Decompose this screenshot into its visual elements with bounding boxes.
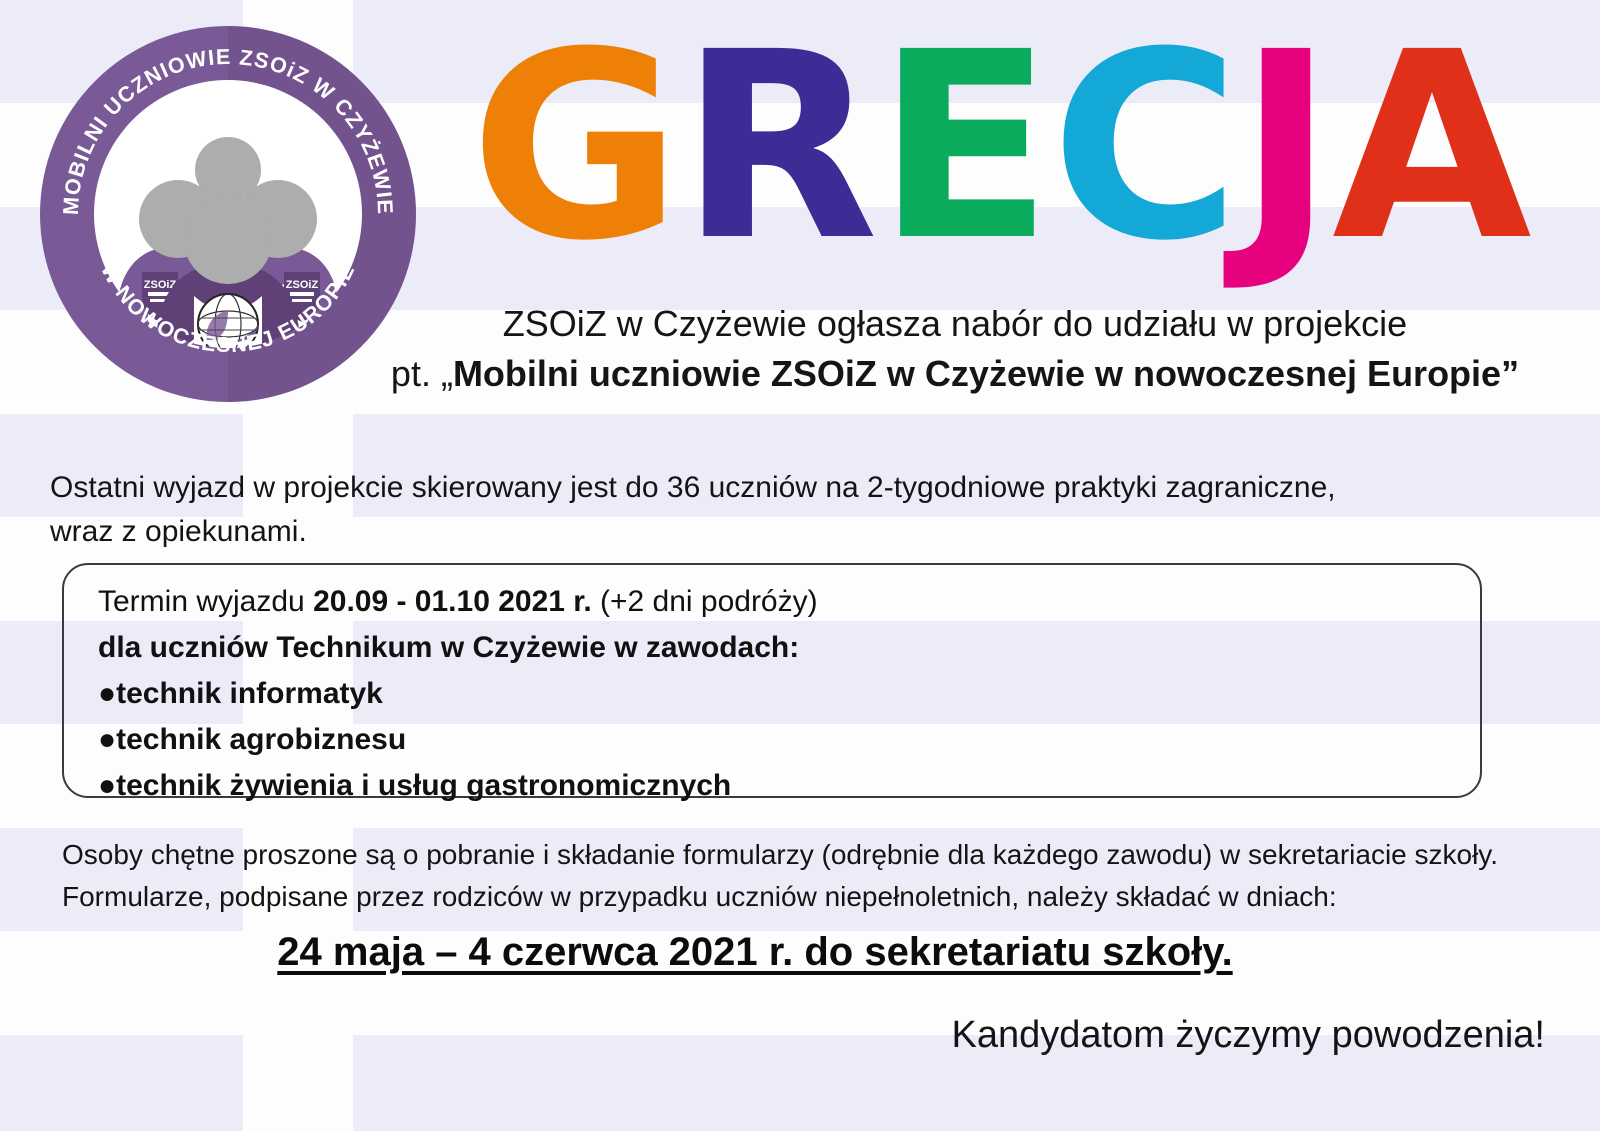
travel-term-line: Termin wyjazdu 20.09 - 01.10 2021 r. (+2…: [98, 579, 1480, 625]
closing-line: Kandydatom życzymy powodzenia!: [0, 1014, 1545, 1057]
poster-headline: GRECJA: [470, 18, 1520, 288]
term-prefix: Termin wyjazdu: [98, 585, 313, 618]
bullet-icon: ●: [98, 723, 116, 756]
headline-letter-a: A: [1332, 18, 1530, 276]
bullet-icon: ●: [98, 677, 116, 710]
outro-line-1: Osoby chętne proszone są o pobranie i sk…: [62, 834, 1542, 876]
subtitle-line-2: pt. „Mobilni uczniowie ZSOiZ w Czyżewie …: [390, 348, 1520, 400]
term-suffix: (+2 dni podróży): [592, 585, 818, 618]
subtitle-project-name: Mobilni uczniowie ZSOiZ w Czyżewie w now…: [453, 353, 1501, 394]
profession-label: technik informatyk: [116, 677, 383, 710]
subtitle-prefix: pt. „: [391, 353, 453, 394]
intro-line-1: Ostatni wyjazd w projekcie skierowany je…: [50, 466, 1490, 510]
profession-label: technik żywienia i usług gastronomicznyc…: [116, 769, 731, 802]
submission-date-text: 24 maja – 4 czerwca 2021 r. do sekretari…: [277, 930, 1232, 974]
profession-item: ●technik informatyk: [98, 671, 1480, 717]
intro-line-2: wraz z opiekunami.: [50, 510, 1490, 554]
profession-item: ●technik agrobiznesu: [98, 717, 1480, 763]
profession-item: ●technik żywienia i usług gastronomiczny…: [98, 763, 1480, 809]
subtitle-line-1: ZSOiZ w Czyżewie ogłasza nabór do udział…: [390, 300, 1520, 348]
outro-line-2: Formularze, podpisane przez rodziców w p…: [62, 876, 1542, 918]
intro-paragraph: Ostatni wyjazd w projekcie skierowany je…: [50, 466, 1490, 554]
headline-letter-j: J: [1238, 18, 1332, 276]
logo-badge-icon: ZSOiZ ZSOiZ: [38, 24, 418, 404]
headline-letter-c: C: [1051, 18, 1238, 276]
profession-label: technik agrobiznesu: [116, 723, 406, 756]
target-group-line: dla uczniów Technikum w Czyżewie w zawod…: [98, 625, 1480, 671]
submission-date-line: 24 maja – 4 czerwca 2021 r. do sekretari…: [0, 930, 1510, 975]
term-dates: 20.09 - 01.10 2021 r.: [313, 585, 592, 618]
subtitle-block: ZSOiZ w Czyżewie ogłasza nabór do udział…: [390, 300, 1520, 400]
outro-paragraph: Osoby chętne proszone są o pobranie i sk…: [62, 834, 1542, 918]
headline-letter-g: G: [470, 18, 680, 276]
bullet-icon: ●: [98, 769, 116, 802]
poster-root: ZSOiZ ZSOiZ: [0, 0, 1600, 1131]
details-box: Termin wyjazdu 20.09 - 01.10 2021 r. (+2…: [62, 563, 1482, 798]
subtitle-suffix: ”: [1501, 353, 1519, 394]
svg-text:ZSOiZ: ZSOiZ: [286, 279, 319, 291]
project-logo: ZSOiZ ZSOiZ: [38, 24, 418, 404]
headline-letter-e: E: [876, 18, 1050, 276]
headline-letter-r: R: [680, 18, 877, 276]
